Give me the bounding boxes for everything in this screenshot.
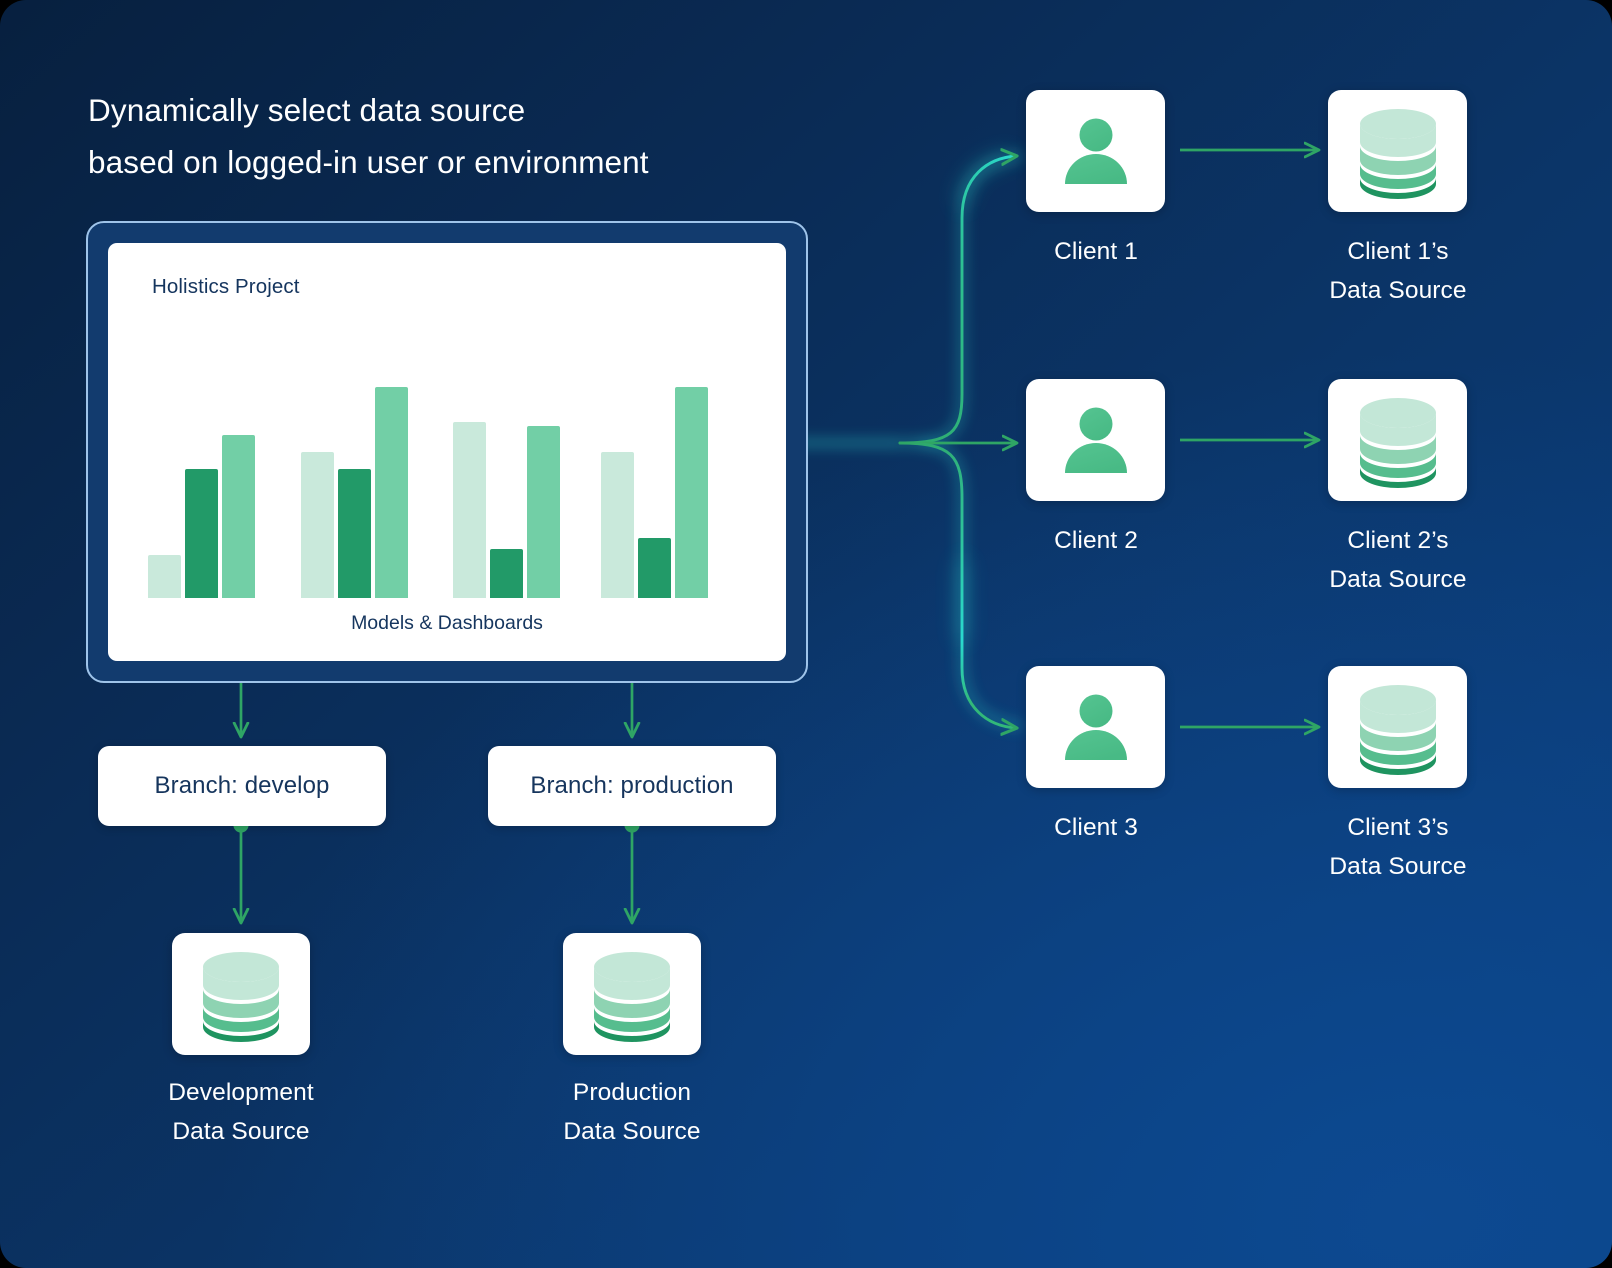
branch-label: Branch: develop [155,772,330,800]
branch-box-develop[interactable]: Branch: develop [98,746,386,826]
diagram-canvas: Dynamically select data source based on … [0,0,1612,1268]
development-data-source-label: Development Data Source [101,1073,381,1151]
branch-label: Branch: production [530,772,733,800]
client-1-tile[interactable] [1026,90,1165,212]
models-dashboards-bar-chart [108,243,786,661]
database-icon [191,945,291,1043]
production-data-source-tile[interactable] [563,933,701,1055]
wire-to-client-3 [900,443,1016,728]
bar-4-mid [675,387,708,598]
project-panel: Holistics Project Models & Dashboards [86,221,808,683]
person-icon [1055,686,1137,768]
client-2-tile[interactable] [1026,379,1165,501]
client-3-data-source-label: Client 3’s Data Source [1258,808,1538,886]
client-1-data-source-tile[interactable] [1328,90,1467,212]
client-2-label: Client 2 [956,521,1236,560]
development-data-source-tile[interactable] [172,933,310,1055]
bar-1-dark [185,469,218,598]
database-icon [1348,391,1448,489]
bar-2-light [301,452,334,598]
project-panel-card: Holistics Project Models & Dashboards [108,243,786,661]
bar-2-mid [375,387,408,598]
client-1-data-source-label: Client 1’s Data Source [1258,232,1538,310]
database-icon [1348,678,1448,776]
client-1-label: Client 1 [956,232,1236,271]
bar-1-light [148,555,181,598]
client-3-label: Client 3 [956,808,1236,847]
branch-box-production[interactable]: Branch: production [488,746,776,826]
bar-3-mid [527,426,560,598]
bar-2-dark [338,469,371,598]
database-icon [582,945,682,1043]
bar-4-light [601,452,634,598]
production-data-source-label: Production Data Source [492,1073,772,1151]
bar-1-mid [222,435,255,598]
database-icon [1348,102,1448,200]
wire-to-client-1 [900,156,1016,443]
client-3-data-source-tile[interactable] [1328,666,1467,788]
client-2-data-source-tile[interactable] [1328,379,1467,501]
bar-3-light [453,422,486,598]
project-footer-label: Models & Dashboards [108,612,786,635]
client-3-tile[interactable] [1026,666,1165,788]
client-2-data-source-label: Client 2’s Data Source [1258,521,1538,599]
bar-4-dark [638,538,671,598]
person-icon [1055,399,1137,481]
page-title: Dynamically select data source based on … [88,84,848,188]
person-icon [1055,110,1137,192]
bar-3-dark [490,549,523,598]
